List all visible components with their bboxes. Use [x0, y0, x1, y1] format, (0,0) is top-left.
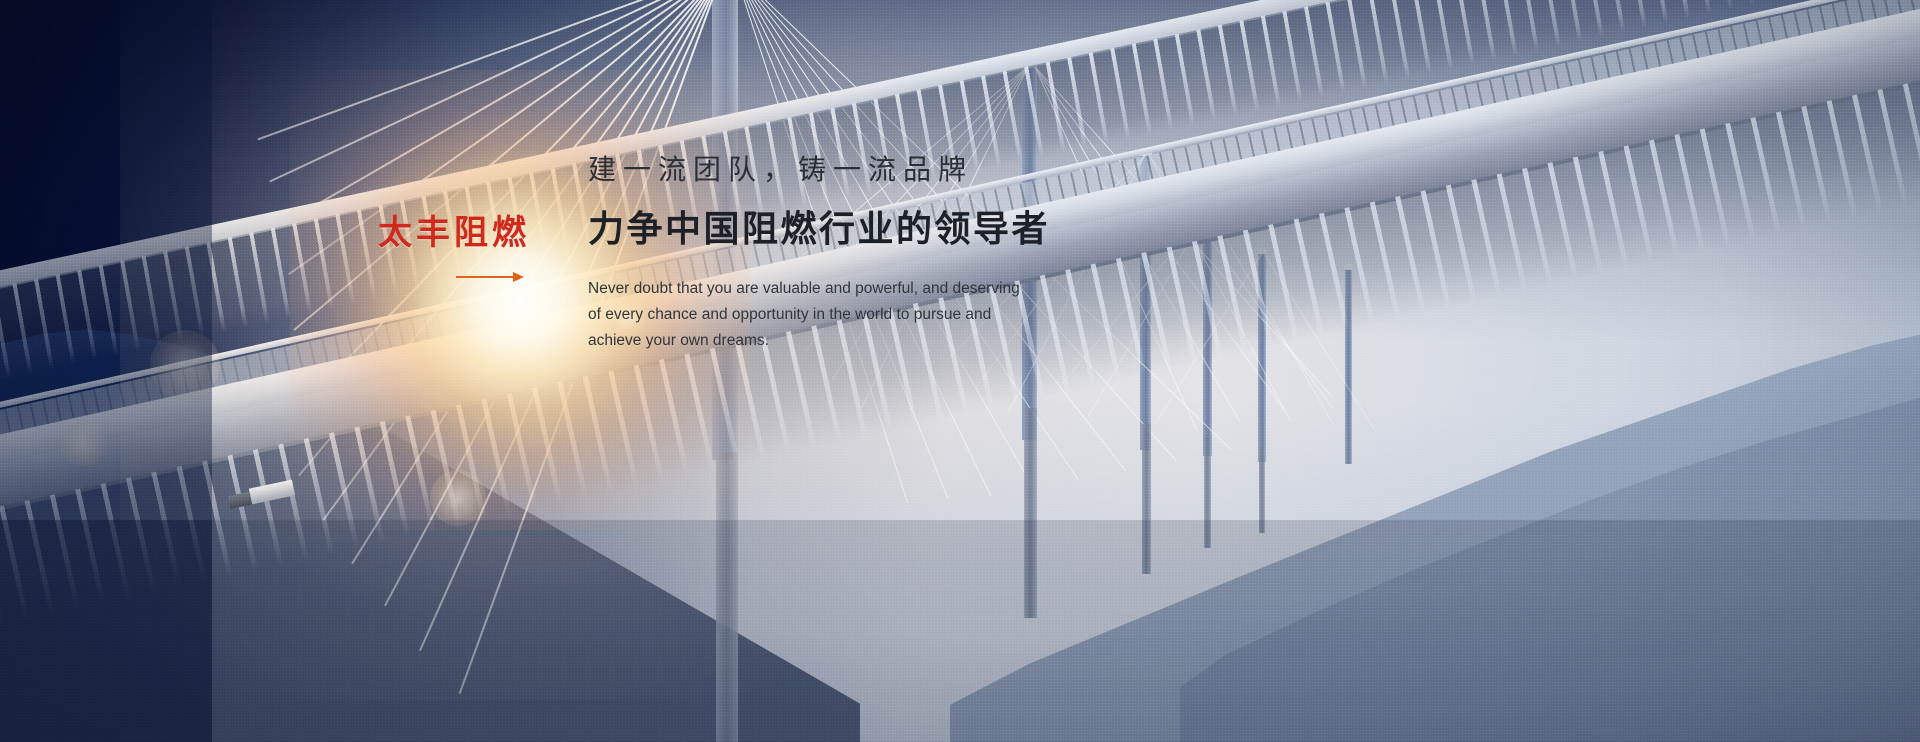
brand-wordmark: 太丰阻燃 — [378, 216, 538, 250]
banner-content: 太丰阻燃 建一流团队，铸一流品牌 力争中国阻燃行业的领导者 Never doub… — [0, 0, 1920, 742]
headline-primary: 建一流团队，铸一流品牌 — [588, 152, 1058, 187]
body-line-1: Never doubt that you are valuable and po… — [588, 276, 1040, 302]
arrow-right-icon — [456, 272, 524, 282]
body-copy: Never doubt that you are valuable and po… — [588, 276, 1040, 354]
body-line-3: achieve your own dreams. — [588, 328, 1040, 354]
body-line-2: of every chance and opportunity in the w… — [588, 302, 1040, 328]
brand-logo[interactable]: 太丰阻燃 — [378, 216, 538, 282]
hero-banner: 太丰阻燃 建一流团队，铸一流品牌 力争中国阻燃行业的领导者 Never doub… — [0, 0, 1920, 742]
banner-copy: 建一流团队，铸一流品牌 力争中国阻燃行业的领导者 Never doubt tha… — [588, 152, 1058, 354]
headline-secondary: 力争中国阻燃行业的领导者 — [588, 207, 1058, 254]
